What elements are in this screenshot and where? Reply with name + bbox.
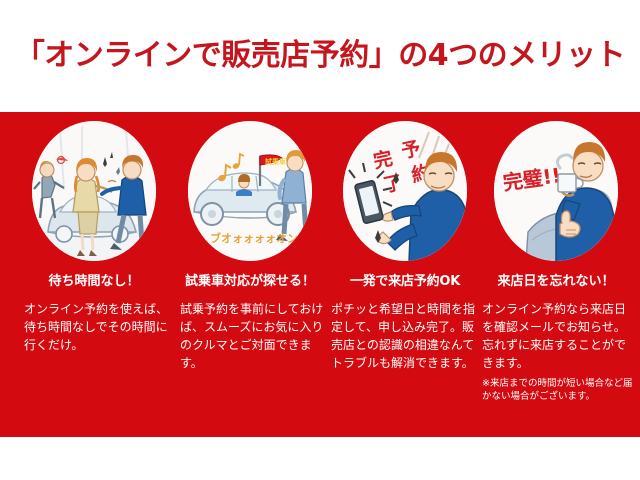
relaxed-man-thumbsup-scene-illustration: 完璧!! bbox=[492, 120, 620, 262]
benefit-body: 試乗予約を事前にしておけば、スムーズにお気に入りのクルマとご対面できます。 bbox=[180, 300, 330, 372]
headline-band: 「オンラインで販売店予約」の4つのメリット bbox=[0, 0, 640, 112]
benefit-item: 予 約 完 了 bbox=[327, 112, 483, 437]
benefit-item: 完璧!! bbox=[478, 112, 634, 437]
showroom-waiting-scene-illustration bbox=[30, 120, 158, 262]
svg-text:試乗車: 試乗車 bbox=[265, 157, 286, 166]
svg-text:ブオォォォォオン: ブオォォォォオン bbox=[210, 231, 298, 245]
benefit-heading: 試乗車対応が探せる！ bbox=[172, 275, 328, 289]
smartphone-booking-scene-illustration: 予 約 完 了 bbox=[341, 120, 469, 262]
benefit-item: 試乗車 bbox=[172, 112, 328, 437]
benefit-heading: 来店日を忘れない！ bbox=[478, 275, 634, 289]
benefit-body: ポチッと希望日と時間を指定して、申し込み完了。販売店との認識の相違なんてトラブル… bbox=[331, 300, 485, 372]
benefit-body: オンライン予約を使えば、待ち時間なしでその時間に行くだけ。 bbox=[24, 300, 174, 354]
benefit-body: オンライン予約なら来店日を確認メールでお知らせ。忘れずに来店することができます。 bbox=[482, 300, 634, 372]
benefit-item: 待ち時間なし！ オンライン予約を使えば、待ち時間なしでその時間に行くだけ。 bbox=[16, 112, 172, 437]
page-title: 「オンラインで販売店予約」の4つのメリット bbox=[15, 41, 625, 71]
benefit-note: ※来店までの時間が短い場合など届かない場合がございます。 bbox=[482, 378, 636, 404]
test-drive-car-scene-illustration: 試乗車 bbox=[186, 120, 314, 262]
bottom-white-margin bbox=[0, 437, 640, 480]
benefit-heading: 一発で来店予約OK bbox=[327, 275, 483, 289]
benefit-columns: 待ち時間なし！ オンライン予約を使えば、待ち時間なしでその時間に行くだけ。 bbox=[0, 112, 640, 437]
benefit-heading: 待ち時間なし！ bbox=[16, 275, 172, 289]
red-content-panel: 待ち時間なし！ オンライン予約を使えば、待ち時間なしでその時間に行くだけ。 bbox=[0, 112, 640, 437]
promo-poster: 「オンラインで販売店予約」の4つのメリット bbox=[0, 0, 640, 480]
